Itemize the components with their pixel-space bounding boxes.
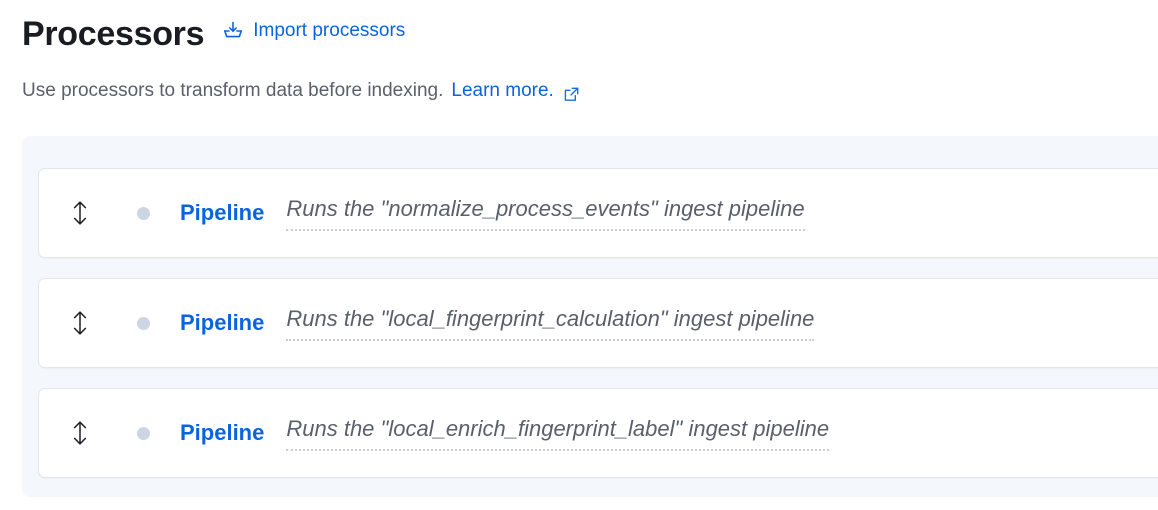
- processors-page: Processors Import processors Use process…: [0, 0, 1158, 510]
- drag-handle[interactable]: [53, 200, 107, 226]
- status-indicator-dot: [137, 207, 150, 220]
- drag-handle[interactable]: [53, 310, 107, 336]
- learn-more-link[interactable]: Learn more.: [451, 78, 553, 104]
- drag-vertical-arrows-icon: [69, 310, 91, 336]
- status-indicator-dot: [137, 427, 150, 440]
- processor-description[interactable]: Runs the "local_enrich_fingerprint_label…: [286, 416, 829, 451]
- status-indicator-dot: [137, 317, 150, 330]
- page-title: Processors: [22, 14, 204, 54]
- processor-type-label[interactable]: Pipeline: [180, 310, 264, 336]
- processor-description[interactable]: Runs the "normalize_process_events" inge…: [286, 196, 804, 231]
- drag-vertical-arrows-icon: [69, 420, 91, 446]
- page-header: Processors Import processors: [22, 14, 405, 54]
- drag-vertical-arrows-icon: [69, 200, 91, 226]
- processors-panel: Pipeline Runs the "normalize_process_eve…: [22, 136, 1158, 497]
- processor-row[interactable]: Pipeline Runs the "local_enrich_fingerpr…: [38, 388, 1158, 478]
- processors-list: Pipeline Runs the "normalize_process_eve…: [38, 168, 1158, 478]
- processor-row[interactable]: Pipeline Runs the "normalize_process_eve…: [38, 168, 1158, 258]
- processor-type-label[interactable]: Pipeline: [180, 200, 264, 226]
- page-subtitle: Use processors to transform data before …: [22, 78, 580, 104]
- import-processors-label: Import processors: [253, 19, 405, 43]
- processor-row[interactable]: Pipeline Runs the "local_fingerprint_cal…: [38, 278, 1158, 368]
- subtitle-text: Use processors to transform data before …: [22, 78, 443, 104]
- external-link-icon[interactable]: [563, 85, 580, 102]
- drag-handle[interactable]: [53, 420, 107, 446]
- import-processors-button[interactable]: Import processors: [222, 19, 405, 43]
- processor-description[interactable]: Runs the "local_fingerprint_calculation"…: [286, 306, 814, 341]
- processor-type-label[interactable]: Pipeline: [180, 420, 264, 446]
- import-tray-download-icon: [222, 20, 244, 42]
